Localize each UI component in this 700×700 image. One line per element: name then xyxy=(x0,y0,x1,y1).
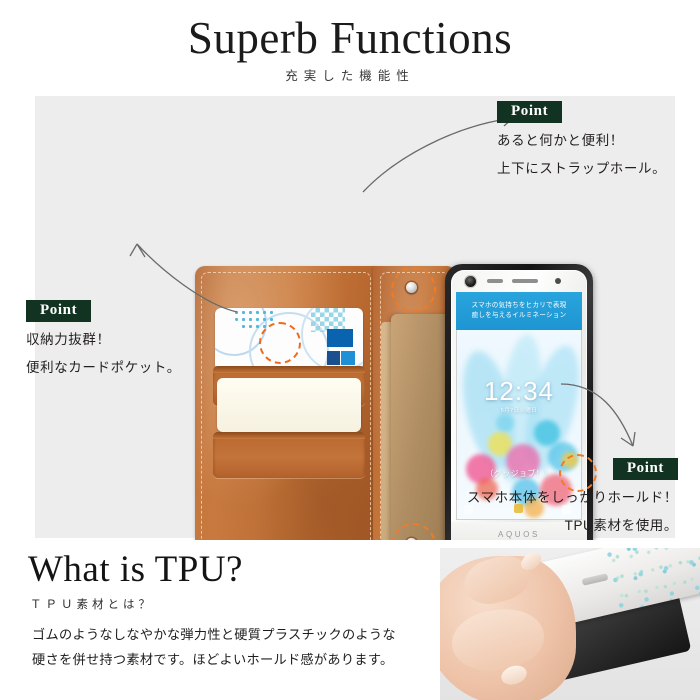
hand-photo xyxy=(440,556,576,700)
screen-banner: スマホの気持ちをヒカリで表現 癒しを与えるイルミネーション xyxy=(456,292,582,330)
thumb xyxy=(448,604,547,676)
header: Superb Functions 充実した機能性 xyxy=(0,0,700,95)
sensor-slot-icon xyxy=(487,279,503,283)
tpu-heading: What is TPU? xyxy=(28,549,243,591)
pocket-lip xyxy=(213,366,365,373)
proximity-sensor-icon xyxy=(555,278,561,284)
callout-pocket-line-1: 収納力抜群！ xyxy=(26,329,226,350)
pocket-lip xyxy=(213,432,365,439)
banner-line-2: 癒しを与えるイルミネーション xyxy=(472,311,567,322)
bokeh-circle xyxy=(496,414,514,432)
plain-card xyxy=(217,378,361,432)
callout-tpu-hold: Point スマホ本体をしっかりホールド！ TPU素材を使用。 xyxy=(438,458,678,536)
front-camera-icon xyxy=(465,276,476,287)
point-badge: Point xyxy=(613,458,678,480)
point-badge: Point xyxy=(497,101,562,123)
tpu-subheading: ＴＰＵ素材とは？ xyxy=(30,596,154,612)
page-subtitle: 充実した機能性 xyxy=(0,65,700,84)
banner-line-1: スマホの気持ちをヒカリで表現 xyxy=(472,301,567,312)
fingernail xyxy=(499,663,529,688)
callout-card-pocket: Point 収納力抜群！ 便利なカードポケット。 xyxy=(26,300,226,378)
callout-strap-line-1: あると何かと便利！ xyxy=(497,130,687,151)
highlight-ring-card-pocket-icon xyxy=(259,322,301,364)
tpu-body-text: ゴムのようなしなやかな弾力性と硬質プラスチックのような 硬さを併せ持つ素材です。… xyxy=(32,622,432,672)
point-badge: Point xyxy=(26,300,91,322)
callout-strap-line-2: 上下にストラップホール。 xyxy=(497,158,687,179)
tpu-body-line-1: ゴムのようなしなやかな弾力性と硬質プラスチックのような xyxy=(32,622,432,647)
callout-tpu-line-2: TPU素材を使用。 xyxy=(438,515,678,536)
earpiece-speaker-icon xyxy=(512,279,538,283)
card-square-icon xyxy=(341,351,355,365)
callout-strap-hole: Point あると何かと便利！ 上下にストラップホール。 xyxy=(497,101,687,179)
card-square-icon xyxy=(327,351,340,365)
card-pocket-lower xyxy=(213,432,365,478)
card-square-icon xyxy=(327,329,353,347)
page-title: Superb Functions xyxy=(0,13,700,63)
phone-top-bezel xyxy=(451,270,587,292)
highlight-ring-strap-top-icon xyxy=(391,267,436,312)
tpu-flex-photo xyxy=(440,548,700,700)
callout-tpu-line-1: スマホ本体をしっかりホールド！ xyxy=(438,487,678,508)
callout-pocket-line-2: 便利なカードポケット。 xyxy=(26,357,226,378)
tpu-body-line-2: 硬さを併せ持つ素材です。ほどよいホールド感があります。 xyxy=(32,647,432,672)
